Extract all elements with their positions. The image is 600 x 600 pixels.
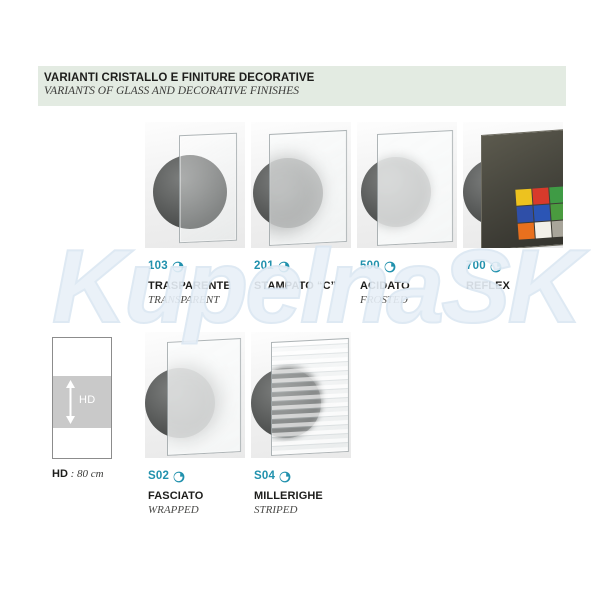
product-name-en: FROSTED bbox=[360, 294, 410, 306]
caption-fasciato: S02 FASCIATO WRAPPED bbox=[148, 469, 203, 516]
code-row: 500 bbox=[360, 259, 410, 274]
code-row: S04 bbox=[254, 469, 323, 484]
glass-pane bbox=[179, 133, 237, 244]
caption-stampato-c: 201 STAMPATO “C” bbox=[254, 259, 336, 294]
product-name: TRASPARENTE bbox=[148, 280, 231, 292]
page-title: VARIANTI CRISTALLO E FINITURE DECORATIVE bbox=[44, 72, 566, 84]
swatch-image-reflex[interactable] bbox=[463, 122, 563, 248]
pattern-overlay bbox=[270, 131, 346, 245]
caption-trasparente: 103 TRASPARENTE TRANSPARENT bbox=[148, 259, 231, 306]
catalog-page: VARIANTI CRISTALLO E FINITURE DECORATIVE… bbox=[0, 0, 600, 600]
product-name: MILLERIGHE bbox=[254, 490, 323, 502]
swatch-image-fasciato[interactable] bbox=[145, 332, 245, 458]
hd-caption-value: : 80 cm bbox=[68, 468, 104, 480]
stripe-pattern-overlay bbox=[272, 339, 348, 455]
hd-double-arrow-icon bbox=[65, 380, 76, 424]
code-row: 700 bbox=[466, 259, 510, 274]
product-name: REFLEX bbox=[466, 280, 510, 292]
hd-dimension-diagram: HD bbox=[52, 337, 112, 459]
swatch-image-stampato-c[interactable] bbox=[251, 122, 351, 248]
glass-finish-badge-icon bbox=[384, 261, 396, 273]
caption-reflex: 700 REFLEX bbox=[466, 259, 510, 294]
glass-finish-badge-icon bbox=[278, 261, 290, 273]
product-code: S02 bbox=[148, 471, 169, 483]
glass-finish-badge-icon bbox=[279, 471, 291, 483]
swatch-image-millerighe[interactable] bbox=[251, 332, 351, 458]
product-code: 201 bbox=[254, 261, 274, 273]
glass-pane bbox=[269, 130, 347, 246]
code-row: S02 bbox=[148, 469, 203, 484]
hd-arrow-label: HD bbox=[79, 394, 96, 406]
code-row: 201 bbox=[254, 259, 336, 274]
hd-caption-label: HD bbox=[52, 468, 68, 480]
glass-finish-badge-icon bbox=[490, 261, 502, 273]
product-name: FASCIATO bbox=[148, 490, 203, 502]
glass-pane bbox=[167, 338, 241, 456]
color-reference-grid bbox=[515, 186, 563, 239]
glass-finish-badge-icon bbox=[173, 471, 185, 483]
caption-acidato: 500 ACIDATO FROSTED bbox=[360, 259, 410, 306]
caption-millerighe: S04 MILLERIGHE STRIPED bbox=[254, 469, 323, 516]
code-row: 103 bbox=[148, 259, 231, 274]
swatch-image-acidato[interactable] bbox=[357, 122, 457, 248]
product-code: 500 bbox=[360, 261, 380, 273]
product-code: 700 bbox=[466, 261, 486, 273]
glass-pane bbox=[377, 130, 453, 246]
glass-finish-badge-icon bbox=[172, 261, 184, 273]
frost-overlay bbox=[378, 131, 452, 245]
glass-pane bbox=[271, 338, 349, 456]
wrap-overlay bbox=[168, 339, 240, 455]
product-code: S04 bbox=[254, 471, 275, 483]
hd-caption: HD : 80 cm bbox=[52, 468, 104, 480]
product-name-en: WRAPPED bbox=[148, 504, 203, 516]
product-code: 103 bbox=[148, 261, 168, 273]
product-name-en: TRANSPARENT bbox=[148, 294, 231, 306]
section-header-band: VARIANTI CRISTALLO E FINITURE DECORATIVE… bbox=[38, 66, 566, 106]
product-name: STAMPATO “C” bbox=[254, 280, 336, 292]
page-subtitle: VARIANTS OF GLASS AND DECORATIVE FINISHE… bbox=[44, 85, 566, 97]
product-name-en: STRIPED bbox=[254, 504, 323, 516]
product-name: ACIDATO bbox=[360, 280, 410, 292]
swatch-image-trasparente[interactable] bbox=[145, 122, 245, 248]
